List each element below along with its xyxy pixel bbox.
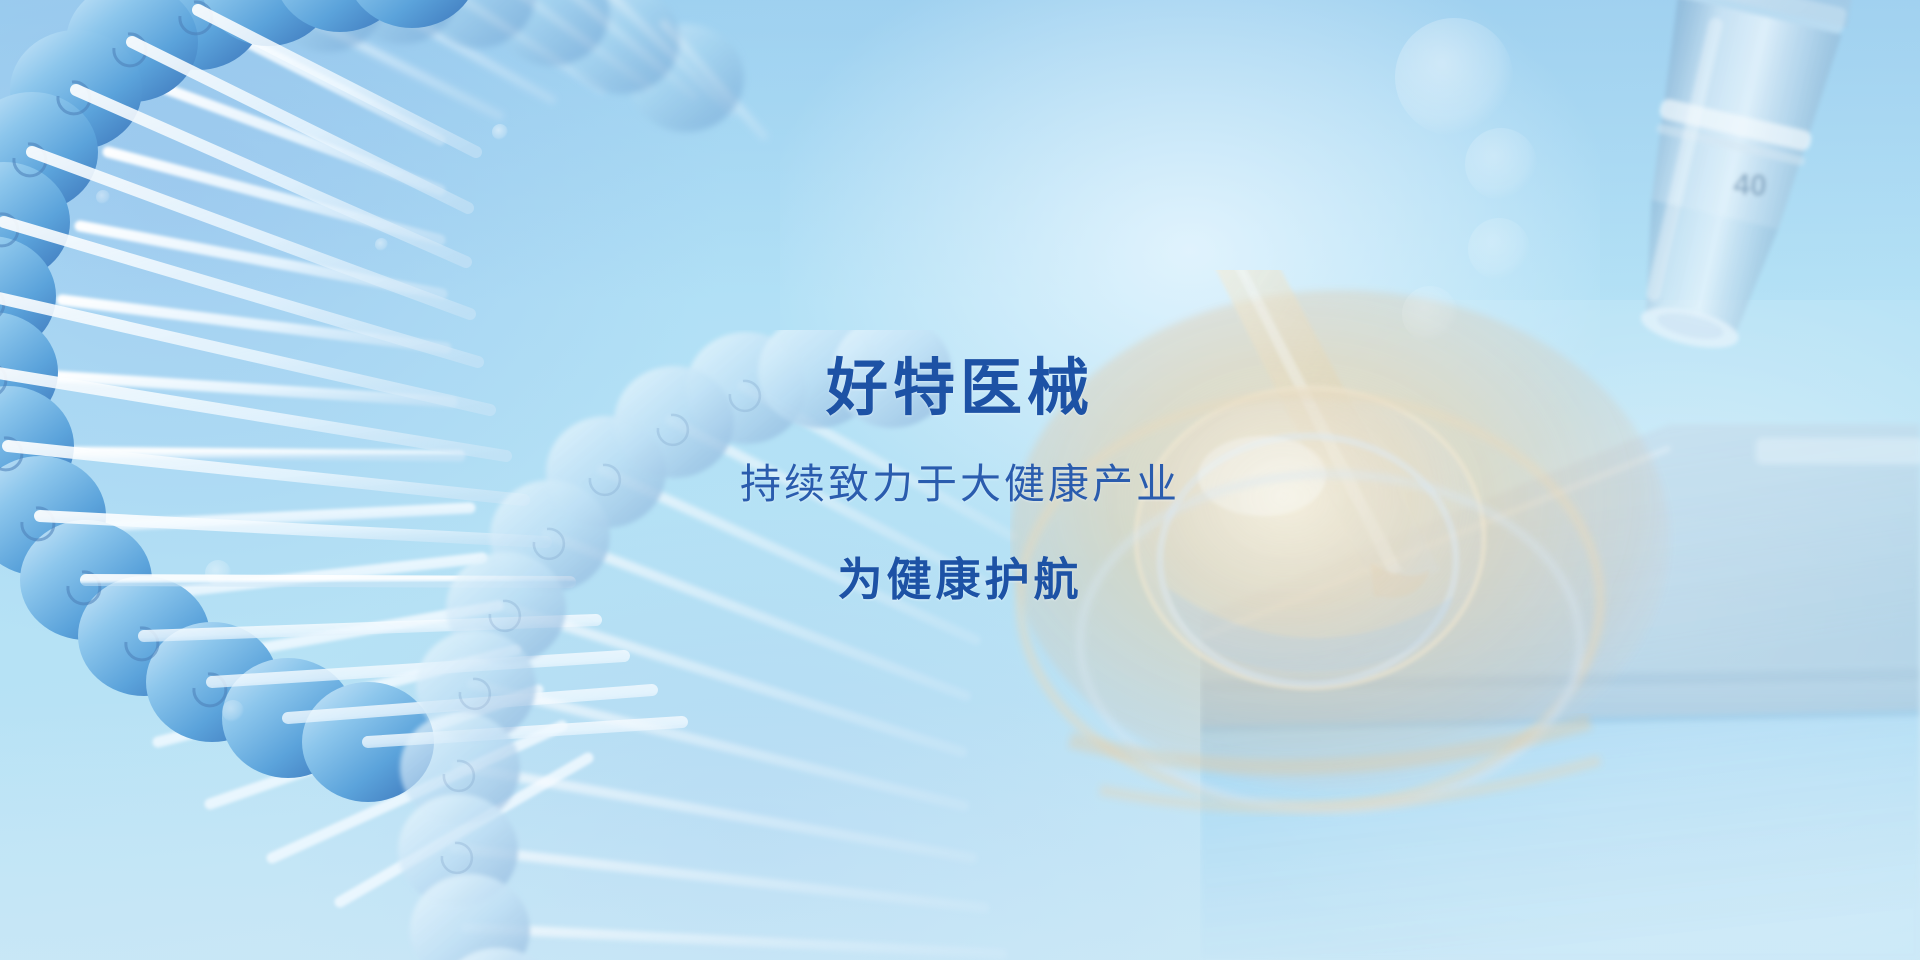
- hero-text-block: 好特医械 持续致力于大健康产业 为健康护航: [0, 0, 1920, 960]
- page-subtitle: 持续致力于大健康产业: [740, 464, 1180, 505]
- page-tagline: 为健康护航: [837, 557, 1082, 602]
- hero-banner: 40: [0, 0, 1920, 960]
- page-title: 好特医械: [826, 358, 1094, 420]
